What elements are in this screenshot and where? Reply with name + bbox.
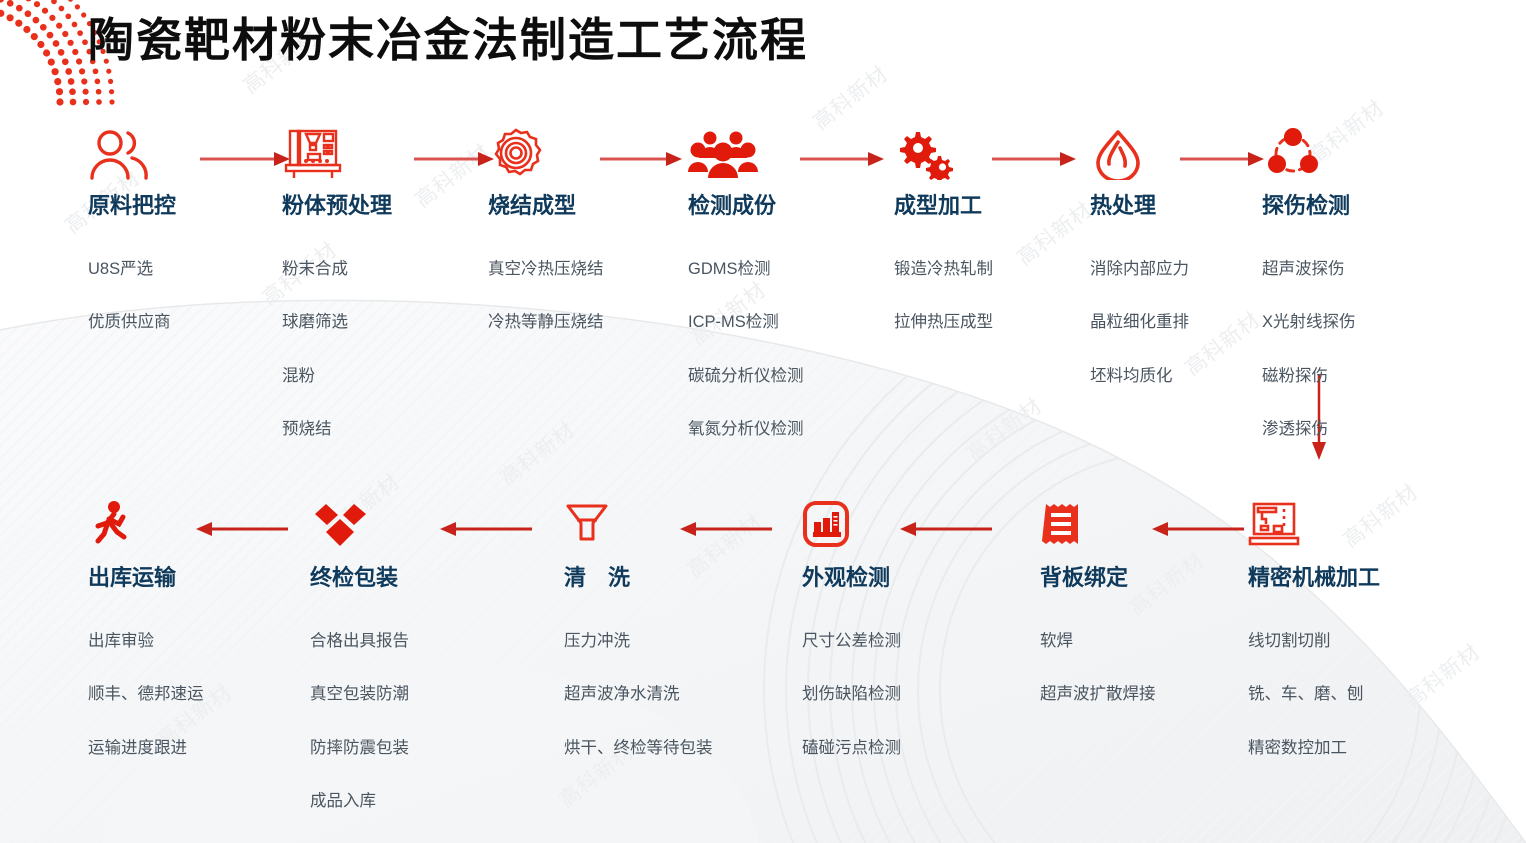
open-box-icon bbox=[310, 500, 409, 552]
flow-arrow-right-3 bbox=[600, 152, 682, 166]
desc-line: 预烧结 bbox=[282, 416, 392, 443]
flow-step-10[interactable]: 外观检测 尺寸公差检测 划伤缺陷检测 磕碰污点检测 bbox=[802, 500, 901, 788]
flow-step-desc: 超声波探伤 X光射线探伤 磁粉探伤 渗透探伤 bbox=[1262, 229, 1356, 469]
desc-line: 真空冷热压烧结 bbox=[488, 256, 604, 283]
page-title: 陶瓷靶材粉末冶金法制造工艺流程 bbox=[88, 4, 808, 70]
flow-step-12[interactable]: 终检包装 合格出具报告 真空包装防潮 防摔防震包装 成品入库 bbox=[310, 500, 409, 841]
desc-line: 磁粉探伤 bbox=[1262, 363, 1356, 390]
watermark: 高科新材 bbox=[1398, 636, 1486, 714]
industrial-machine-icon bbox=[282, 128, 392, 180]
desc-line: 线切割切削 bbox=[1248, 628, 1380, 655]
desc-line: 氧氮分析仪检测 bbox=[688, 416, 804, 443]
desc-line: 拉伸热压成型 bbox=[894, 309, 993, 336]
desc-line: 软焊 bbox=[1040, 628, 1156, 655]
watermark: 高科新材 bbox=[1178, 304, 1266, 382]
flow-arrow-left-4 bbox=[440, 522, 532, 536]
flow-step-6[interactable]: 热处理 消除内部应力 晶粒细化重排 坯料均质化 bbox=[1090, 128, 1189, 416]
people-group-icon bbox=[688, 128, 804, 180]
flow-step-desc: 锻造冷热轧制 拉伸热压成型 bbox=[894, 229, 993, 363]
desc-line: 成品入库 bbox=[310, 788, 409, 815]
flow-step-title: 原料把控 bbox=[88, 188, 176, 220]
desc-line: 球磨筛选 bbox=[282, 309, 392, 336]
three-dots-triangle-icon bbox=[1262, 128, 1356, 180]
desc-line: 顺丰、德邦速运 bbox=[88, 681, 204, 708]
flow-step-desc: 粉末合成 球磨筛选 混粉 预烧结 bbox=[282, 229, 392, 469]
gear-spiral-icon bbox=[488, 128, 604, 180]
flow-step-title: 探伤检测 bbox=[1262, 188, 1356, 220]
flow-arrow-right-4 bbox=[800, 152, 884, 166]
watermark: 高科新材 bbox=[493, 414, 581, 492]
desc-line: 渗透探伤 bbox=[1262, 416, 1356, 443]
flow-step-title: 成型加工 bbox=[894, 188, 993, 220]
flow-step-desc: GDMS检测 ICP-MS检测 碳硫分析仪检测 氧氮分析仪检测 bbox=[688, 229, 804, 469]
desc-line: 出库审验 bbox=[88, 628, 204, 655]
desc-line: 优质供应商 bbox=[88, 309, 176, 336]
flow-step-desc: 线切割切削 铣、车、磨、刨 精密数控加工 bbox=[1248, 601, 1380, 788]
flow-step-11[interactable]: 清洗 压力冲洗 超声波净水清洗 烘干、终检等待包装 bbox=[564, 500, 732, 788]
flow-arrow-right-5 bbox=[992, 152, 1076, 166]
desc-line: 磕碰污点检测 bbox=[802, 735, 901, 762]
desc-line: 超声波净水清洗 bbox=[564, 681, 732, 708]
desc-line: 尺寸公差检测 bbox=[802, 628, 901, 655]
watermark: 高科新材 bbox=[1010, 194, 1098, 272]
flow-step-desc: 消除内部应力 晶粒细化重排 坯料均质化 bbox=[1090, 229, 1189, 416]
desc-line: 超声波探伤 bbox=[1262, 256, 1356, 283]
flow-arrow-left-5 bbox=[196, 522, 288, 536]
desc-line: U8S严选 bbox=[88, 256, 176, 283]
flow-step-desc: 压力冲洗 超声波净水清洗 烘干、终检等待包装 bbox=[564, 601, 732, 788]
desc-line: 划伤缺陷检测 bbox=[802, 681, 901, 708]
desc-line: GDMS检测 bbox=[688, 256, 804, 283]
flow-step-4[interactable]: 检测成份 GDMS检测 ICP-MS检测 碳硫分析仪检测 氧氮分析仪检测 bbox=[688, 128, 804, 469]
watermark: 高科新材 bbox=[806, 58, 894, 136]
desc-line: 混粉 bbox=[282, 363, 392, 390]
desc-line: 碳硫分析仪检测 bbox=[688, 363, 804, 390]
cnc-machine-icon bbox=[1248, 500, 1380, 552]
flow-step-title: 出库运输 bbox=[88, 560, 204, 592]
flow-step-desc: U8S严选 优质供应商 bbox=[88, 229, 176, 363]
watermark: 高科新材 bbox=[408, 136, 496, 214]
gears-icon bbox=[894, 128, 993, 180]
desc-line: 冷热等静压烧结 bbox=[488, 309, 604, 336]
flow-step-8[interactable]: 精密机械加工 线切割切削 铣、车、磨、刨 精密数控加工 bbox=[1248, 500, 1380, 788]
desc-line: 精密数控加工 bbox=[1248, 735, 1380, 762]
desc-line: 铣、车、磨、刨 bbox=[1248, 681, 1380, 708]
flow-step-1[interactable]: 原料把控 U8S严选 优质供应商 bbox=[88, 128, 176, 363]
flow-arrow-left-2 bbox=[900, 522, 992, 536]
flow-arrow-right-2 bbox=[414, 152, 494, 166]
flow-step-title: 烧结成型 bbox=[488, 188, 604, 220]
desc-line: 合格出具报告 bbox=[310, 628, 409, 655]
desc-line: 真空包装防潮 bbox=[310, 681, 409, 708]
flow-step-13[interactable]: 出库运输 出库审验 顺丰、德邦速运 运输进度跟进 bbox=[88, 500, 204, 788]
flow-step-desc: 软焊 超声波扩散焊接 bbox=[1040, 601, 1156, 735]
desc-line: 坯料均质化 bbox=[1090, 363, 1189, 390]
flow-step-desc: 合格出具报告 真空包装防潮 防摔防震包装 成品入库 bbox=[310, 601, 409, 841]
flow-step-title: 检测成份 bbox=[688, 188, 804, 220]
desc-line: 烘干、终检等待包装 bbox=[564, 735, 732, 762]
funnel-icon bbox=[564, 500, 732, 552]
desc-line: X光射线探伤 bbox=[1262, 309, 1356, 336]
flow-step-desc: 真空冷热压烧结 冷热等静压烧结 bbox=[488, 229, 604, 363]
desc-line: ICP-MS检测 bbox=[688, 309, 804, 336]
flow-arrow-right-1 bbox=[200, 152, 290, 166]
desc-line: 压力冲洗 bbox=[564, 628, 732, 655]
flow-step-3[interactable]: 烧结成型 真空冷热压烧结 冷热等静压烧结 bbox=[488, 128, 604, 363]
flow-step-5[interactable]: 成型加工 锻造冷热轧制 拉伸热压成型 bbox=[894, 128, 993, 363]
flow-step-desc: 出库审验 顺丰、德邦速运 运输进度跟进 bbox=[88, 601, 204, 788]
flow-step-desc: 尺寸公差检测 划伤缺陷检测 磕碰污点检测 bbox=[802, 601, 901, 788]
flow-step-title: 精密机械加工 bbox=[1248, 560, 1380, 592]
watermark: 高科新材 bbox=[960, 390, 1048, 468]
desc-line: 防摔防震包装 bbox=[310, 735, 409, 762]
desc-line: 超声波扩散焊接 bbox=[1040, 681, 1156, 708]
desc-line: 粉末合成 bbox=[282, 256, 392, 283]
walking-person-icon bbox=[88, 500, 204, 552]
flow-step-2[interactable]: 粉体预处理 粉末合成 球磨筛选 混粉 预烧结 bbox=[282, 128, 392, 469]
flow-step-title: 清洗 bbox=[564, 560, 732, 592]
desc-line: 运输进度跟进 bbox=[88, 735, 204, 762]
flow-step-title: 背板绑定 bbox=[1040, 560, 1156, 592]
factory-badge-icon bbox=[802, 500, 901, 552]
flame-icon bbox=[1090, 128, 1189, 180]
flow-step-7[interactable]: 探伤检测 超声波探伤 X光射线探伤 磁粉探伤 渗透探伤 bbox=[1262, 128, 1356, 469]
flow-arrow-right-6 bbox=[1180, 152, 1264, 166]
flow-step-title: 热处理 bbox=[1090, 188, 1189, 220]
desc-line: 消除内部应力 bbox=[1090, 256, 1189, 283]
flow-step-title: 粉体预处理 bbox=[282, 188, 392, 220]
flow-step-title: 终检包装 bbox=[310, 560, 409, 592]
flow-step-9[interactable]: 背板绑定 软焊 超声波扩散焊接 bbox=[1040, 500, 1156, 735]
desc-line: 锻造冷热轧制 bbox=[894, 256, 993, 283]
flow-arrow-left-1 bbox=[1152, 522, 1244, 536]
flow-step-title: 外观检测 bbox=[802, 560, 901, 592]
desc-line: 晶粒细化重排 bbox=[1090, 309, 1189, 336]
two-users-icon bbox=[88, 128, 176, 180]
receipt-icon bbox=[1040, 500, 1156, 552]
